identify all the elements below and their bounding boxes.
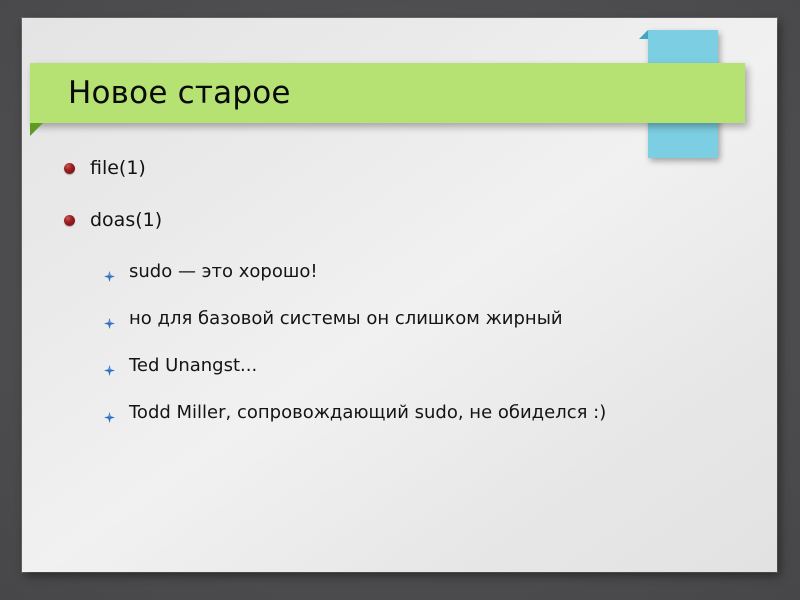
list-item-label: но для базовой системы он слишком жирный [129, 307, 563, 331]
list-item: doas(1) [22, 208, 777, 233]
slide-content-list: file(1) doas(1) sudo — это хорошо! [22, 156, 777, 448]
list-item-label: sudo — это хорошо! [129, 260, 318, 284]
list-item: Todd Miller, сопровождающий sudo, не оби… [22, 401, 777, 425]
slide-canvas: Новое старое file(1) doas(1) sudo — это … [22, 18, 777, 572]
blue-star-bullet-icon [104, 267, 115, 278]
blue-star-bullet-icon [104, 408, 115, 419]
red-sphere-bullet-icon [64, 215, 75, 226]
list-item-label: Todd Miller, сопровождающий sudo, не оби… [129, 401, 606, 425]
list-item-label: doas(1) [90, 208, 162, 233]
list-item: но для базовой системы он слишком жирный [22, 307, 777, 331]
red-sphere-bullet-icon [64, 163, 75, 174]
title-band-fold-icon [30, 123, 43, 136]
title-band: Новое старое [30, 63, 745, 123]
page-title: Новое старое [68, 78, 291, 109]
list-item: sudo — это хорошо! [22, 260, 777, 284]
list-item-label: file(1) [90, 156, 146, 181]
list-item-label: Ted Unangst... [129, 354, 257, 378]
blue-star-bullet-icon [104, 314, 115, 325]
blue-star-bullet-icon [104, 361, 115, 372]
blue-accent-band-fold-icon [639, 30, 648, 39]
list-item: file(1) [22, 156, 777, 181]
list-item: Ted Unangst... [22, 354, 777, 378]
